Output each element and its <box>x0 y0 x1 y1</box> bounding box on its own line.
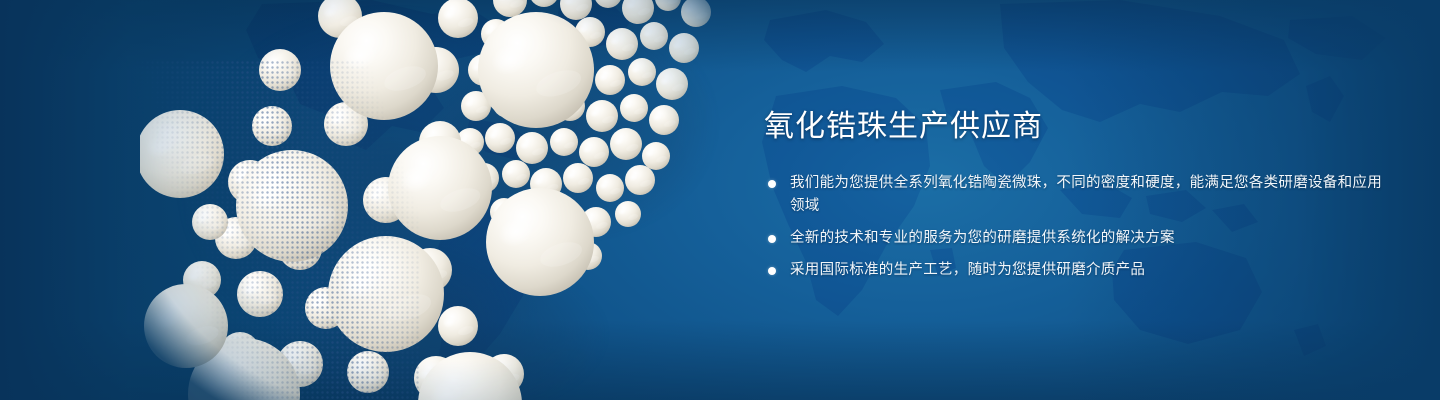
bullet-text: 采用国际标准的生产工艺，随时为您提供研磨介质产品 <box>790 259 1384 282</box>
zirconia-beads-product-photo <box>140 0 730 400</box>
bullet-text: 全新的技术和专业的服务为您的研磨提供系统化的解决方案 <box>790 227 1384 250</box>
banner-bullet-list: 我们能为您提供全系列氧化锆陶瓷微珠，不同的密度和硬度，能满足您各类研磨设备和应用… <box>764 172 1384 282</box>
bullet-dot-icon <box>768 180 776 188</box>
bullet-item: 全新的技术和专业的服务为您的研磨提供系统化的解决方案 <box>764 227 1384 250</box>
bullet-text: 我们能为您提供全系列氧化锆陶瓷微珠，不同的密度和硬度，能满足您各类研磨设备和应用… <box>790 172 1384 218</box>
bullet-item: 我们能为您提供全系列氧化锆陶瓷微珠，不同的密度和硬度，能满足您各类研磨设备和应用… <box>764 172 1384 218</box>
bullet-item: 采用国际标准的生产工艺，随时为您提供研磨介质产品 <box>764 259 1384 282</box>
bullet-dot-icon <box>768 267 776 275</box>
bullet-dot-icon <box>768 235 776 243</box>
banner-headline: 氧化锆珠生产供应商 <box>764 108 1384 146</box>
banner-copy-block: 氧化锆珠生产供应商 我们能为您提供全系列氧化锆陶瓷微珠，不同的密度和硬度，能满足… <box>764 108 1384 282</box>
hero-banner: 氧化锆珠生产供应商 我们能为您提供全系列氧化锆陶瓷微珠，不同的密度和硬度，能满足… <box>0 0 1440 400</box>
